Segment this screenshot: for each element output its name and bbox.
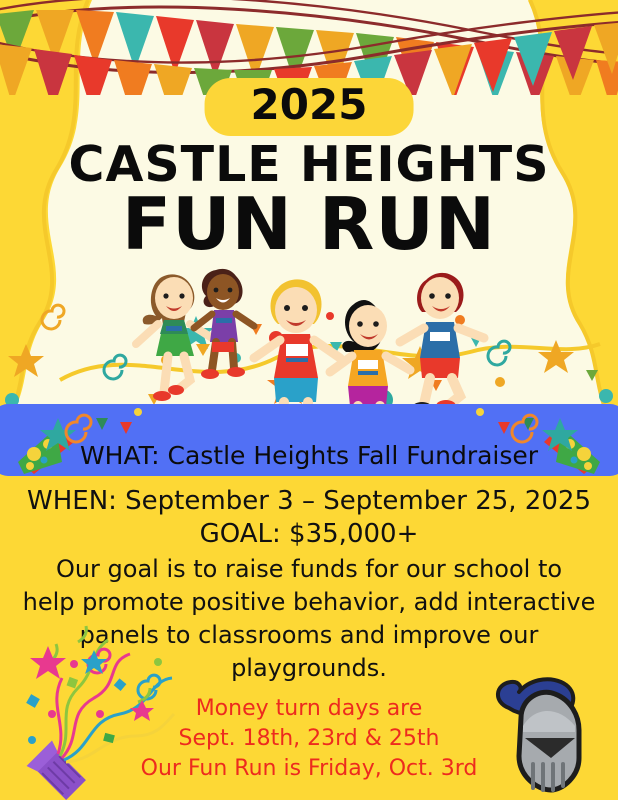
- fun-run-flyer: 2025 CASTLE HEIGHTS FUN RUN: [0, 0, 618, 800]
- year-badge: 2025: [205, 78, 414, 136]
- year-badge-label: 2025: [251, 80, 368, 129]
- what-line: WHAT: Castle Heights Fall Fundraiser: [0, 441, 618, 471]
- goal-line: GOAL: $35,000+: [0, 518, 618, 551]
- knight-helmet-mascot-icon: [485, 672, 605, 798]
- body-line-2: help promote positive behavior, add inte…: [0, 586, 618, 619]
- body-line-1: Our goal is to raise funds for our schoo…: [0, 553, 618, 586]
- when-line: WHEN: September 3 – September 25, 2025: [0, 485, 618, 518]
- page-title-line2: FUN RUN: [0, 186, 618, 262]
- party-popper-icon: [8, 618, 188, 800]
